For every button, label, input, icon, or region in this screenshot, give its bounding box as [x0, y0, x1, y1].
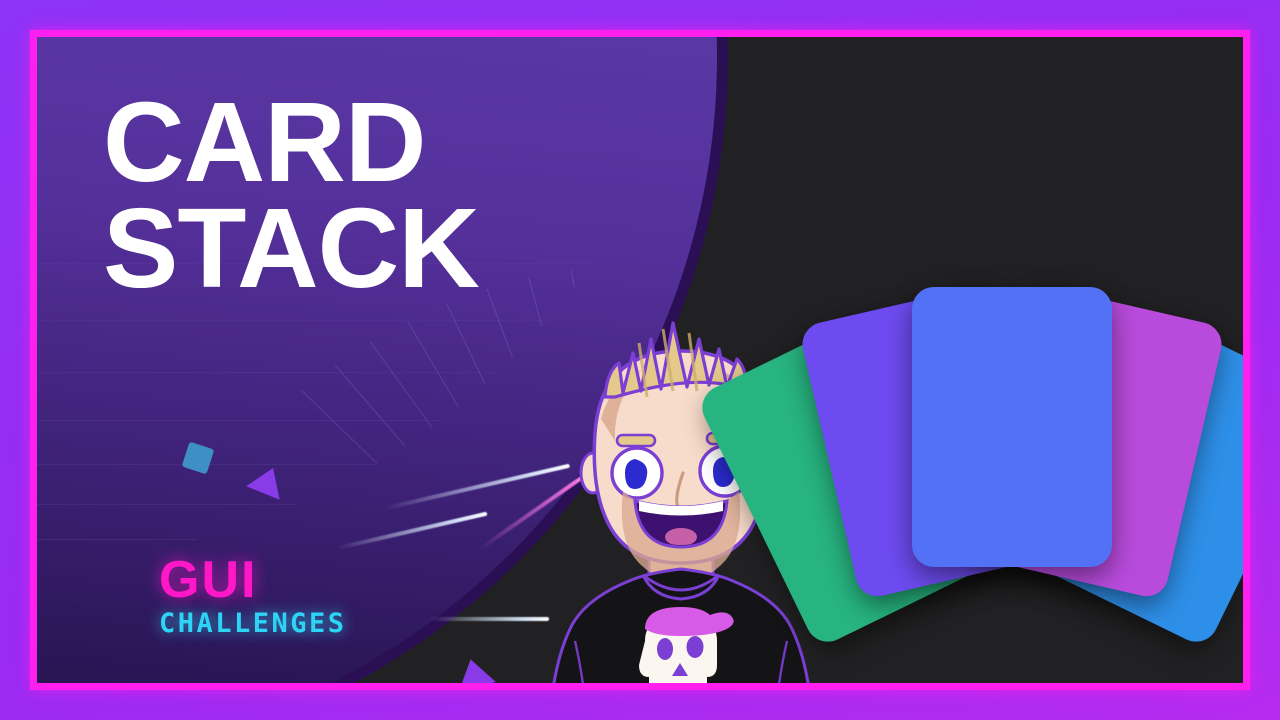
- neon-frame-border: CARD STACK GUI CHALLENGES: [30, 30, 1250, 690]
- series-logo: GUI CHALLENGES: [159, 554, 347, 637]
- logo-gui-text: GUI: [159, 554, 347, 606]
- thumbnail-canvas: CARD STACK GUI CHALLENGES: [0, 0, 1280, 720]
- title-line-2: STACK: [103, 195, 479, 301]
- page-title: CARD STACK: [103, 89, 479, 301]
- title-line-1: CARD: [103, 89, 479, 195]
- logo-challenges-text: CHALLENGES: [159, 610, 347, 637]
- shape-triangle-purple-2: [452, 655, 496, 683]
- card-blue-front[interactable]: [912, 287, 1112, 567]
- card-stack[interactable]: [797, 252, 1243, 652]
- stage: CARD STACK GUI CHALLENGES: [37, 37, 1243, 683]
